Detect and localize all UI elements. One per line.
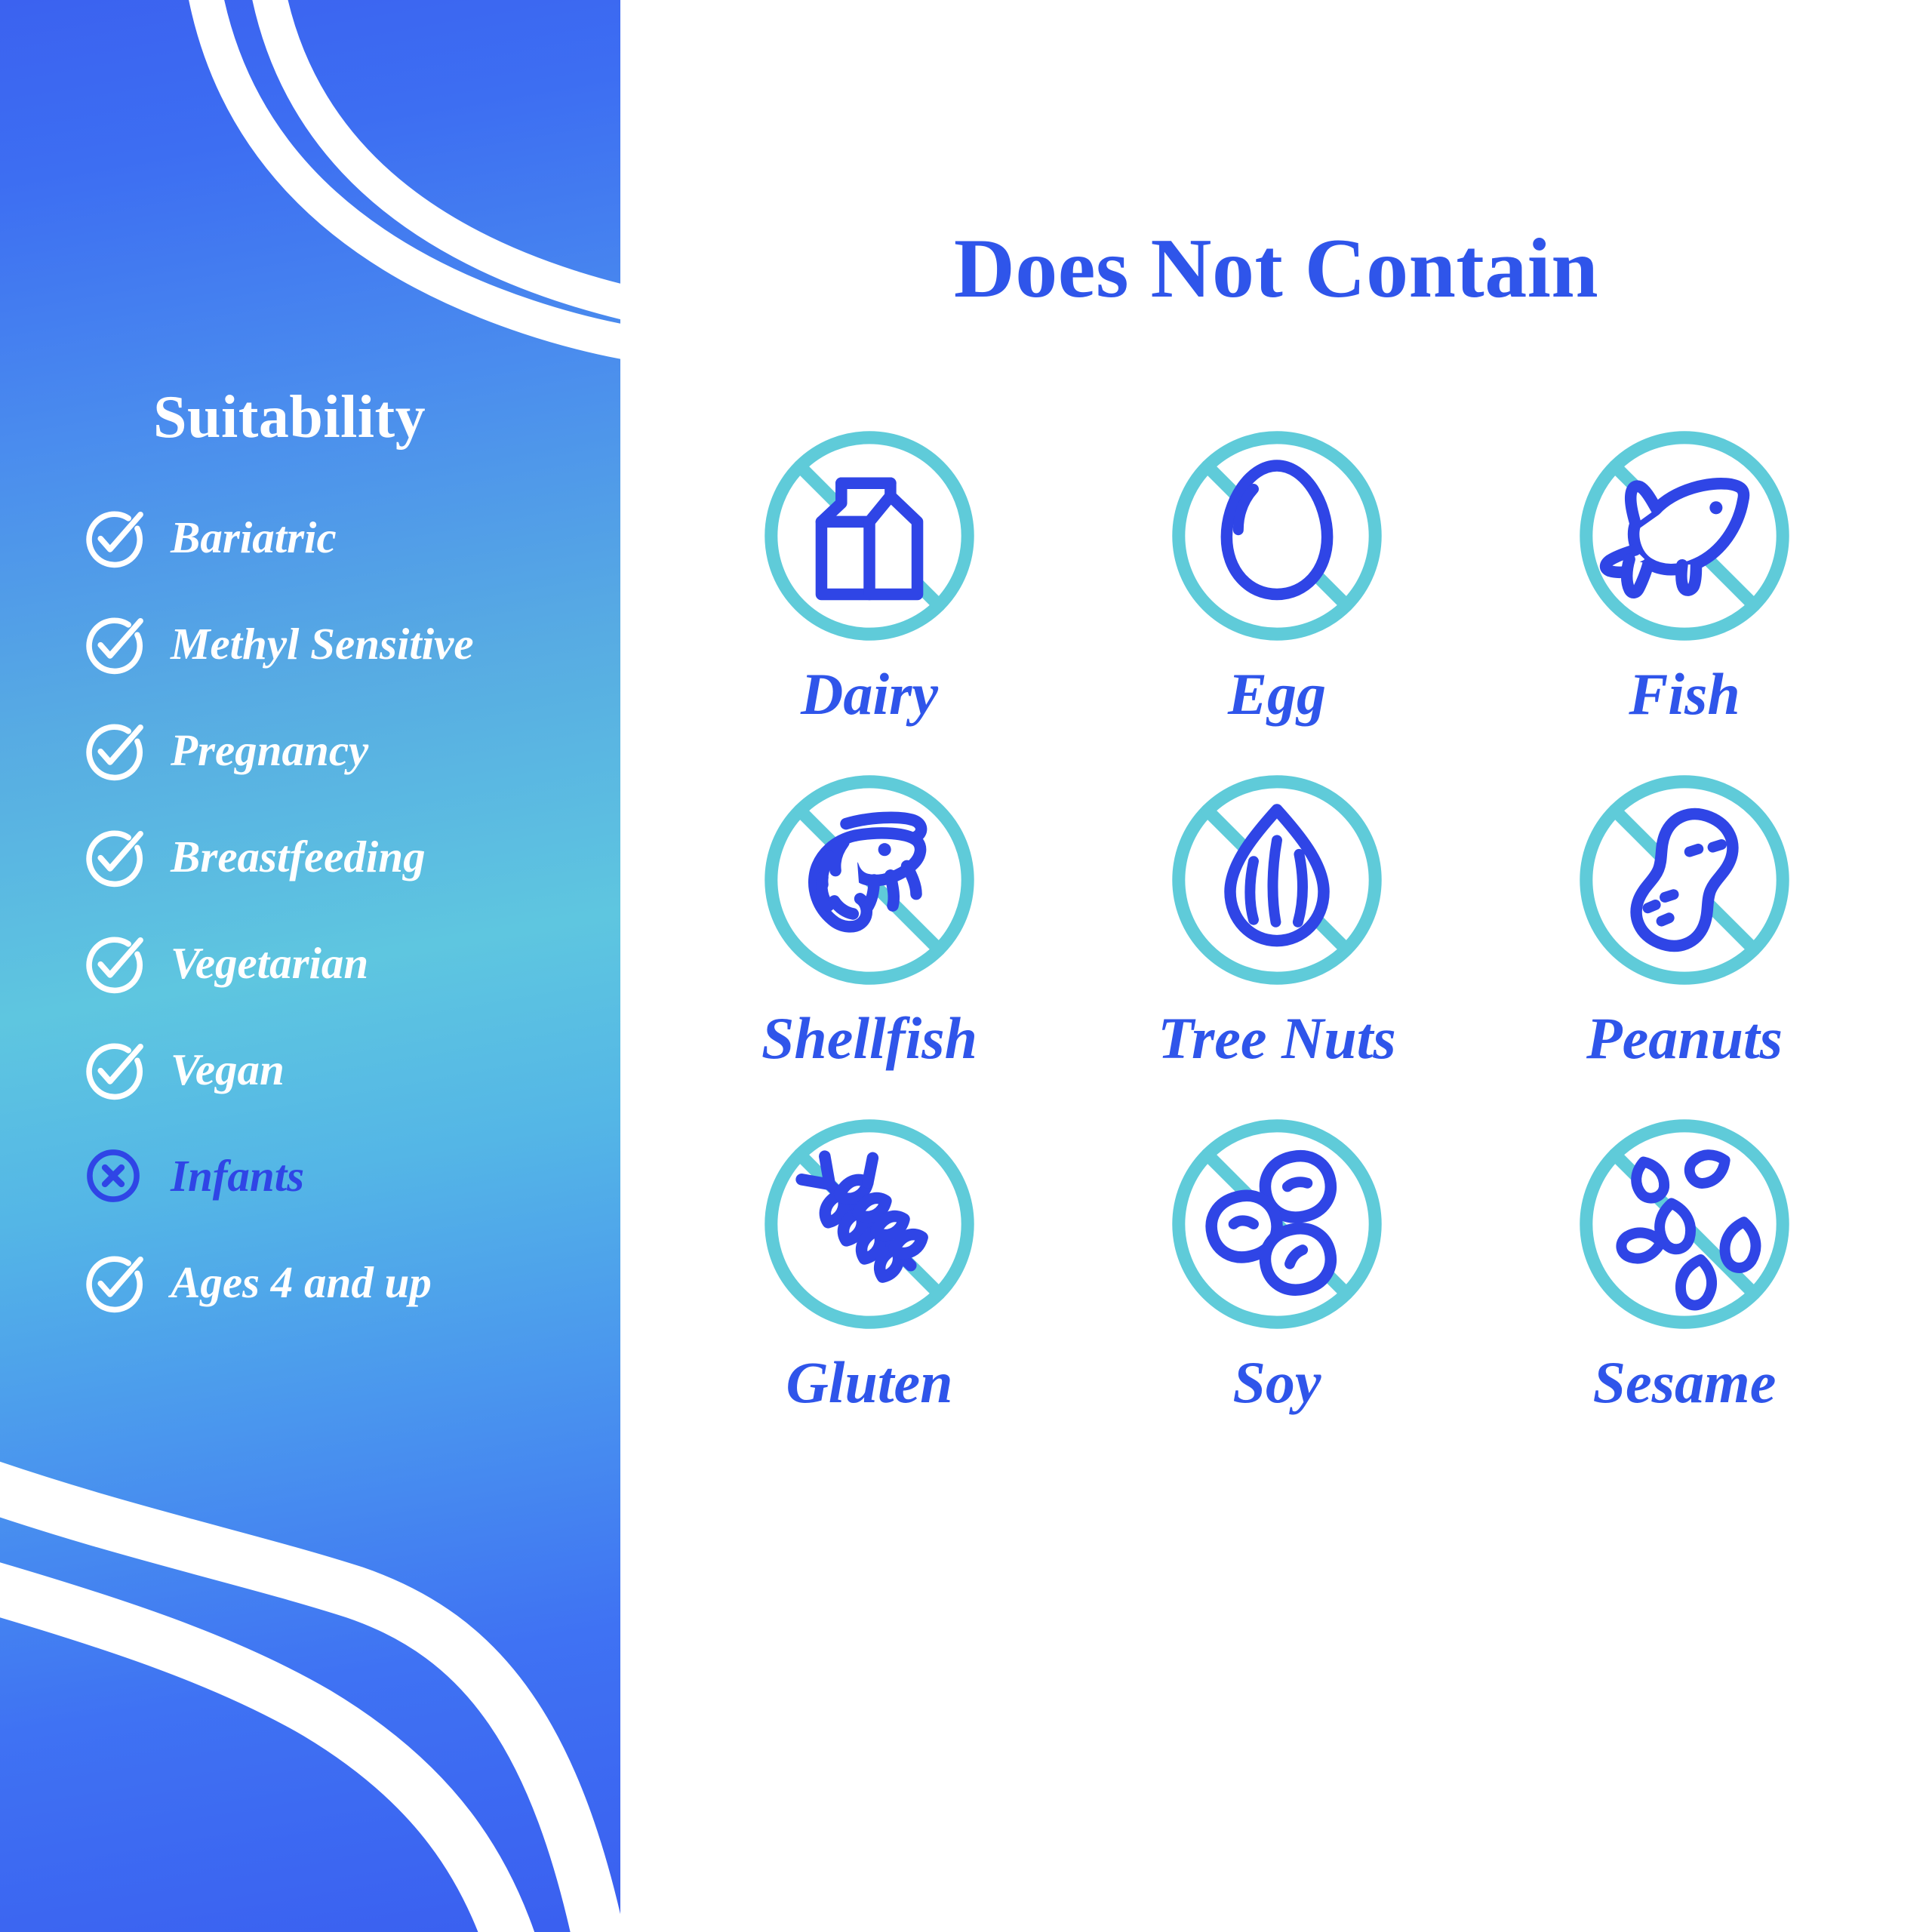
no-almond-icon — [1160, 763, 1394, 997]
suitability-item-pregnancy[interactable]: Pregnancy — [82, 711, 620, 789]
no-egg-icon — [1160, 419, 1394, 653]
no-peanut-icon — [1567, 763, 1801, 997]
allergen-label: Tree Nuts — [1158, 1008, 1396, 1069]
no-milk-carton-icon — [752, 419, 986, 653]
allergen-cell-peanuts[interactable]: Peanuts — [1481, 763, 1888, 1069]
allergen-label: Dairy — [801, 663, 938, 725]
suitability-item-label: Infants — [171, 1154, 304, 1198]
check-circle-icon — [82, 931, 145, 995]
check-circle-icon — [82, 718, 145, 782]
allergen-label: Sesame — [1593, 1352, 1777, 1414]
allergen-label: Fish — [1629, 663, 1740, 725]
check-circle-icon — [82, 1038, 145, 1101]
check-circle-icon — [82, 506, 145, 569]
allergen-cell-soy[interactable]: Soy — [1073, 1107, 1481, 1414]
no-shrimp-icon — [752, 763, 986, 997]
no-fish-icon — [1567, 419, 1801, 653]
no-soybean-icon — [1160, 1107, 1394, 1341]
infographic-canvas: Suitability Bariatric Methyl — [0, 0, 1932, 1932]
suitability-item-label: Methyl Sensitive — [171, 622, 474, 666]
allergen-label: Soy — [1233, 1352, 1321, 1414]
suitability-item-label: Bariatric — [171, 515, 337, 560]
suitability-item-ages-4-and-up[interactable]: Ages 4 and up — [82, 1243, 620, 1321]
suitability-item-breastfeeding[interactable]: Breastfeeding — [82, 817, 620, 896]
suitability-item-methyl-sensitive[interactable]: Methyl Sensitive — [82, 605, 620, 683]
allergen-cell-fish[interactable]: Fish — [1481, 419, 1888, 725]
suitability-list: Bariatric Methyl Sensitive P — [82, 498, 620, 1349]
suitability-item-label: Ages 4 and up — [171, 1260, 432, 1305]
does-not-contain-panel: Does Not Contain — [620, 0, 1932, 1932]
suitability-item-label: Vegan — [171, 1048, 285, 1092]
check-circle-icon — [82, 1251, 145, 1314]
x-circle-icon — [82, 1144, 145, 1207]
suitability-item-label: Vegetarian — [171, 941, 368, 986]
suitability-item-label: Breastfeeding — [171, 835, 426, 879]
allergen-cell-dairy[interactable]: Dairy — [666, 419, 1073, 725]
suitability-item-label: Pregnancy — [171, 728, 368, 773]
allergen-label: Shellfish — [761, 1008, 977, 1069]
allergen-cell-egg[interactable]: Egg — [1073, 419, 1481, 725]
suitability-panel: Suitability Bariatric Methyl — [0, 0, 620, 1932]
suitability-heading: Suitability — [153, 383, 426, 452]
allergen-cell-gluten[interactable]: Gluten — [666, 1107, 1073, 1414]
suitability-item-infants[interactable]: Infants — [82, 1137, 620, 1215]
allergen-cell-tree-nuts[interactable]: Tree Nuts — [1073, 763, 1481, 1069]
allergen-grid: Dairy Egg — [666, 419, 1888, 1414]
allergen-cell-sesame[interactable]: Sesame — [1481, 1107, 1888, 1414]
does-not-contain-heading: Does Not Contain — [620, 220, 1932, 318]
suitability-item-vegetarian[interactable]: Vegetarian — [82, 924, 620, 1002]
suitability-content: Suitability Bariatric Methyl — [0, 0, 620, 1932]
suitability-item-vegan[interactable]: Vegan — [82, 1030, 620, 1109]
allergen-cell-shellfish[interactable]: Shellfish — [666, 763, 1073, 1069]
allergen-label: Gluten — [786, 1352, 952, 1414]
allergen-label: Egg — [1228, 663, 1326, 725]
check-circle-icon — [82, 612, 145, 675]
no-sesame-seeds-icon — [1567, 1107, 1801, 1341]
allergen-label: Peanuts — [1586, 1008, 1783, 1069]
check-circle-icon — [82, 825, 145, 888]
suitability-item-bariatric[interactable]: Bariatric — [82, 498, 620, 577]
no-wheat-icon — [752, 1107, 986, 1341]
